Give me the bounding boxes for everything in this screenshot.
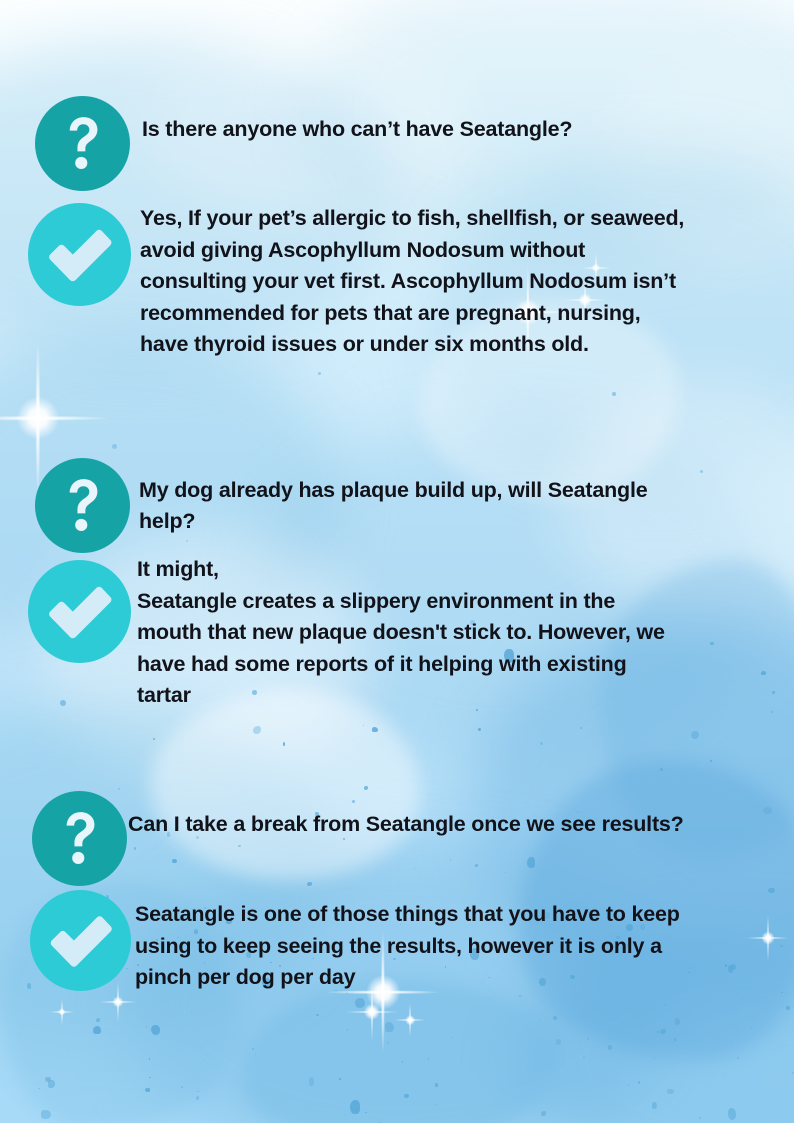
faq-answer-text: Yes, If your pet’s allergic to fish, she… bbox=[140, 203, 790, 361]
faq-content: Is there anyone who can’t have Seatangle… bbox=[0, 0, 794, 1123]
question-mark-circle-icon bbox=[35, 458, 130, 553]
text-line: recommended for pets that are pregnant, … bbox=[140, 298, 790, 330]
text-line: Is there anyone who can’t have Seatangle… bbox=[142, 114, 782, 145]
text-line: avoid giving Ascophyllum Nodosum without bbox=[140, 235, 790, 267]
text-line: consulting your vet first. Ascophyllum N… bbox=[140, 266, 790, 298]
faq-answer-text: It might,Seatangle creates a slippery en… bbox=[137, 554, 792, 712]
question-mark-circle-icon bbox=[35, 96, 130, 191]
text-line: Yes, If your pet’s allergic to fish, she… bbox=[140, 203, 790, 235]
text-line: My dog already has plaque build up, will… bbox=[139, 475, 784, 506]
text-line: tartar bbox=[137, 680, 792, 712]
text-line: mouth that new plaque doesn't stick to. … bbox=[137, 617, 792, 649]
text-line: have had some reports of it helping with… bbox=[137, 649, 792, 681]
check-circle-icon bbox=[28, 203, 131, 306]
text-line: have thyroid issues or under six months … bbox=[140, 329, 790, 361]
text-line: Can I take a break from Seatangle once w… bbox=[128, 809, 790, 840]
faq-question-text: My dog already has plaque build up, will… bbox=[139, 475, 784, 537]
faq-question-text: Can I take a break from Seatangle once w… bbox=[128, 809, 790, 840]
text-line: using to keep seeing the results, howeve… bbox=[135, 931, 790, 963]
faq-answer-text: Seatangle is one of those things that yo… bbox=[135, 899, 790, 994]
text-line: help? bbox=[139, 506, 784, 537]
check-circle-icon bbox=[30, 890, 131, 991]
question-mark-circle-icon bbox=[32, 791, 127, 886]
text-line: It might, bbox=[137, 554, 792, 586]
check-circle-icon bbox=[28, 560, 131, 663]
faq-question-text: Is there anyone who can’t have Seatangle… bbox=[142, 114, 782, 145]
faq-page: Is there anyone who can’t have Seatangle… bbox=[0, 0, 794, 1123]
text-line: Seatangle is one of those things that yo… bbox=[135, 899, 790, 931]
text-line: Seatangle creates a slippery environment… bbox=[137, 586, 792, 618]
text-line: pinch per dog per day bbox=[135, 962, 790, 994]
